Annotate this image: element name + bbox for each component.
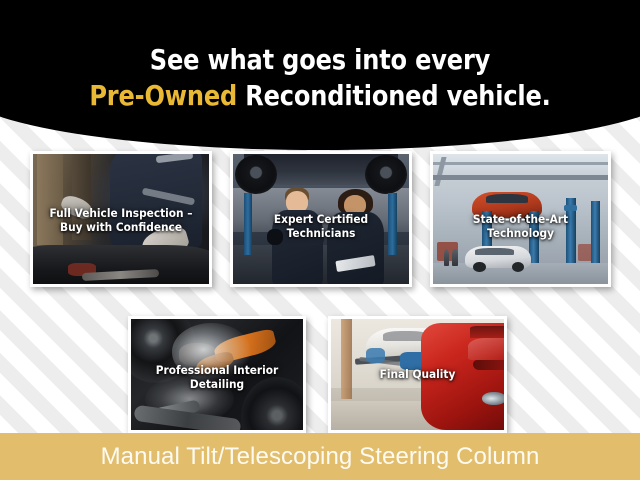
lift-post-cap (564, 205, 577, 212)
shop-worker-1 (444, 249, 450, 266)
header-content: See what goes into every Pre-Owned Recon… (0, 0, 640, 150)
white-sedan-window (475, 248, 514, 256)
card-photo: Final Quality (331, 319, 504, 430)
card-photo: Professional Interior Detailing (131, 319, 303, 430)
feature-card-state-of-the-art-technology[interactable]: State-of-the-Art Technology (430, 151, 611, 287)
feature-card-full-vehicle-inspection[interactable]: Full Vehicle Inspection – Buy with Confi… (30, 151, 212, 287)
red-suv-window (486, 194, 528, 203)
bottom-banner: Manual Tilt/Telescoping Steering Column (0, 433, 640, 480)
card-label: Professional Interior Detailing (138, 363, 296, 391)
ceiling-beam (433, 175, 608, 180)
headline-line-1: See what goes into every (45, 42, 595, 78)
promo-graphic: See what goes into every Pre-Owned Recon… (0, 0, 640, 480)
card-label: Final Quality (338, 367, 497, 381)
feature-card-expert-certified-technicians[interactable]: Expert Certified Technicians (230, 151, 412, 287)
headline-line-2: Pre-Owned Reconditioned vehicle. (45, 78, 595, 114)
ceiling-beam-upper (433, 162, 608, 165)
card-label: Full Vehicle Inspection – Buy with Confi… (40, 206, 202, 234)
uniform-stripe (156, 154, 193, 164)
header-banner: See what goes into every Pre-Owned Recon… (0, 0, 640, 150)
white-sedan-wheel-front (473, 262, 485, 272)
card-label: State-of-the-Art Technology (440, 212, 601, 240)
shop-worker-2 (452, 249, 458, 266)
card-photo: State-of-the-Art Technology (433, 154, 608, 284)
showroom-pillar (341, 319, 351, 399)
red-car-roof (470, 326, 504, 339)
headline-rest: Reconditioned vehicle. (237, 79, 551, 112)
red-car-hood-highlight (468, 338, 504, 359)
feature-card-final-quality[interactable]: Final Quality (328, 316, 507, 433)
headline-highlight: Pre-Owned (89, 79, 237, 112)
feature-card-professional-interior-detailing[interactable]: Professional Interior Detailing (128, 316, 306, 433)
card-photo: Expert Certified Technicians (233, 154, 409, 284)
red-car-headlight (482, 392, 504, 406)
banner-text: Manual Tilt/Telescoping Steering Column (101, 443, 540, 471)
card-label: Expert Certified Technicians (240, 212, 402, 240)
blue-equipment-left (366, 348, 385, 364)
card-photo: Full Vehicle Inspection – Buy with Confi… (33, 154, 209, 284)
